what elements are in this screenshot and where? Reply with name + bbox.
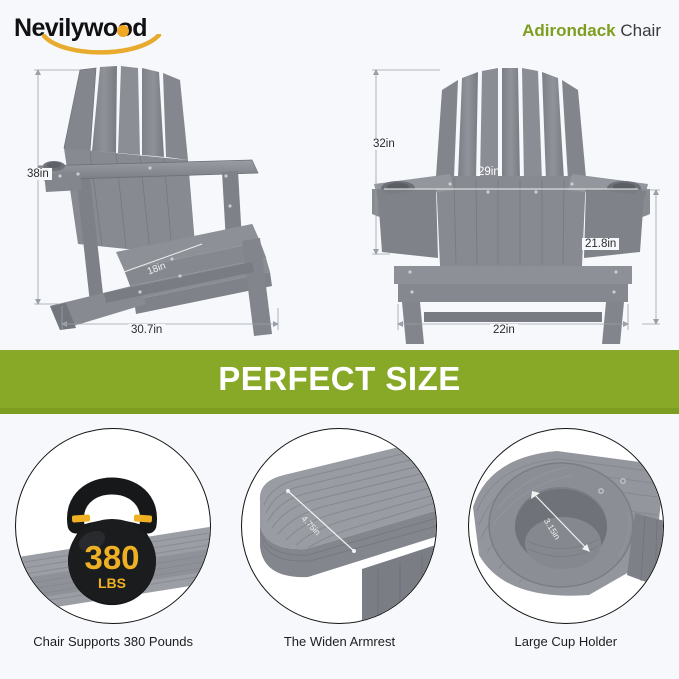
feature-weight-capacity: 380 LBS Chair Supports 380 Pounds [6, 420, 221, 649]
weight-capacity-circle: 380 LBS [15, 428, 211, 624]
weight-value-text: 380 [85, 539, 140, 576]
perfect-size-banner: PERFECT SIZE [0, 350, 679, 408]
feature-cup-holder: 3.15in Large Cup Holder [458, 420, 673, 649]
header: Nevilywood Adirondack Chair [0, 0, 679, 60]
feature-caption-cup-holder: Large Cup Holder [458, 634, 673, 649]
logo-smile-icon [42, 34, 162, 56]
feature-caption-weight: Chair Supports 380 Pounds [6, 634, 221, 649]
cup-holder-illustration [469, 429, 664, 624]
feature-row: 380 LBS Chair Supports 380 Pounds [0, 420, 679, 679]
banner-shadow-strip [0, 408, 679, 414]
front-view-arm-width-label: 29in [475, 166, 503, 178]
side-view-chair-illustration [20, 56, 340, 346]
kettlebell-illustration: 380 LBS [16, 429, 211, 624]
widen-armrest-circle: 4.75in [241, 428, 437, 624]
brand-logo: Nevilywood [14, 12, 174, 56]
infographic-page: Nevilywood Adirondack Chair [0, 0, 679, 679]
front-view-back-height-label: 32in [370, 138, 398, 150]
page-title-brand: Adirondack [522, 21, 616, 40]
cup-holder-circle: 3.15in [468, 428, 664, 624]
front-view-base-width-label: 22in [490, 324, 518, 336]
front-view-seat-height-label: 21.8in [582, 238, 619, 250]
banner-title: PERFECT SIZE [218, 360, 461, 398]
front-view-chair-illustration [350, 56, 679, 346]
armrest-illustration [242, 429, 437, 624]
page-title-plain: Chair [620, 21, 661, 40]
dimension-diagrams: 38in 30.7in 18in [0, 56, 679, 346]
feature-widen-armrest: 4.75in The Widen Armrest [232, 420, 447, 649]
side-view-height-label: 38in [24, 168, 52, 180]
side-view-width-label: 30.7in [128, 324, 165, 336]
page-title: Adirondack Chair [522, 21, 661, 41]
weight-unit-text: LBS [98, 575, 126, 591]
feature-caption-armrest: The Widen Armrest [232, 634, 447, 649]
